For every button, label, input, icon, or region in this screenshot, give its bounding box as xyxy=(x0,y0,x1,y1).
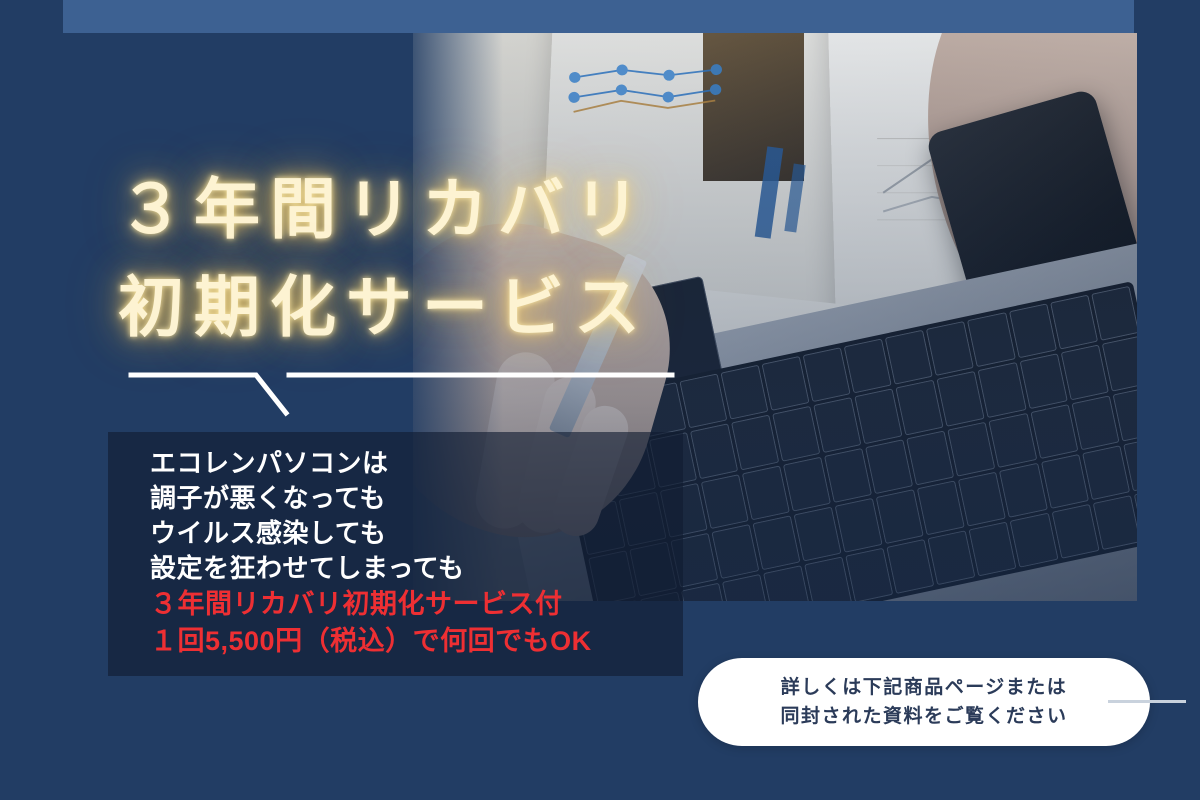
pill-line-2: 同封された資料をご覧ください xyxy=(780,702,1067,731)
pill-tail-line xyxy=(1108,700,1186,703)
top-accent-band xyxy=(63,0,1134,33)
copy-line-1: エコレンパソコンは xyxy=(150,446,665,481)
promo-banner: ３年間リカバリ 初期化サービス エコレンパソコンは 調子が悪くなっても ウイルス… xyxy=(0,0,1200,800)
copy-line-2: 調子が悪くなっても xyxy=(150,481,665,516)
pill-line-1: 詳しくは下記商品ページまたは xyxy=(781,673,1068,702)
headline-line-2: 初期化サービス xyxy=(118,258,878,356)
copy-line-4: 設定を狂わせてしまっても xyxy=(150,551,665,586)
headline-line-1: ３年間リカバリ xyxy=(118,160,878,258)
headline: ３年間リカバリ 初期化サービス xyxy=(118,160,878,356)
info-pill[interactable]: 詳しくは下記商品ページまたは 同封された資料をご覧ください xyxy=(698,658,1150,746)
copy-line-5-highlight: ３年間リカバリ初期化サービス付 xyxy=(150,586,665,623)
copy-line-6-highlight: １回5,500円（税込）で何回でもOK xyxy=(150,623,665,660)
copy-line-3: ウイルス感染しても xyxy=(150,516,665,551)
copy-panel: エコレンパソコンは 調子が悪くなっても ウイルス感染しても 設定を狂わせてしまっ… xyxy=(108,432,683,676)
